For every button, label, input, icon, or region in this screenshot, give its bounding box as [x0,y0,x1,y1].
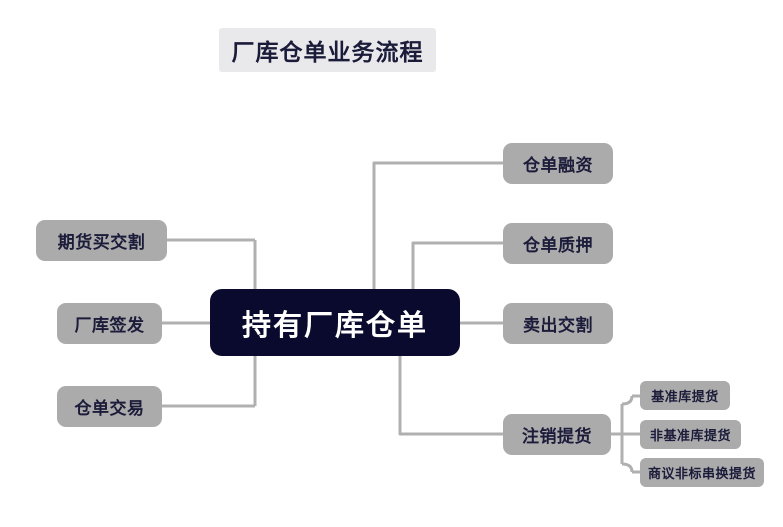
edge-right-4 [400,356,503,434]
edge-right-1 [374,163,503,290]
edge-sub-corner-3 [622,464,632,472]
node-cancel-pickup[interactable]: 注销提货 [503,414,611,455]
center-node-hold-factory-warehouse-receipt[interactable]: 持有厂库仓单 [210,289,460,356]
node-negotiated-nonstandard-swap-pickup[interactable]: 商议非标串换提货 [640,458,764,487]
mindmap-canvas: 厂库仓单业务流程 持有厂库仓单 期货买交割 厂库签发 仓单交易 仓单融资 仓单质… [0,0,783,527]
edge-sub-corner-1 [622,396,632,404]
node-sell-delivery[interactable]: 卖出交割 [503,303,613,344]
node-warehouse-receipt-trading[interactable]: 仓单交易 [57,386,162,427]
diagram-title: 厂库仓单业务流程 [219,28,436,72]
node-warehouse-receipt-financing[interactable]: 仓单融资 [503,143,613,184]
edge-right-2 [413,243,503,290]
node-futures-buy-delivery[interactable]: 期货买交割 [36,220,167,261]
node-benchmark-warehouse-pickup[interactable]: 基准库提货 [640,381,730,410]
node-warehouse-receipt-pledge[interactable]: 仓单质押 [503,223,613,264]
node-non-benchmark-warehouse-pickup[interactable]: 非基准库提货 [640,420,741,449]
node-factory-warehouse-issuance[interactable]: 厂库签发 [57,303,162,344]
